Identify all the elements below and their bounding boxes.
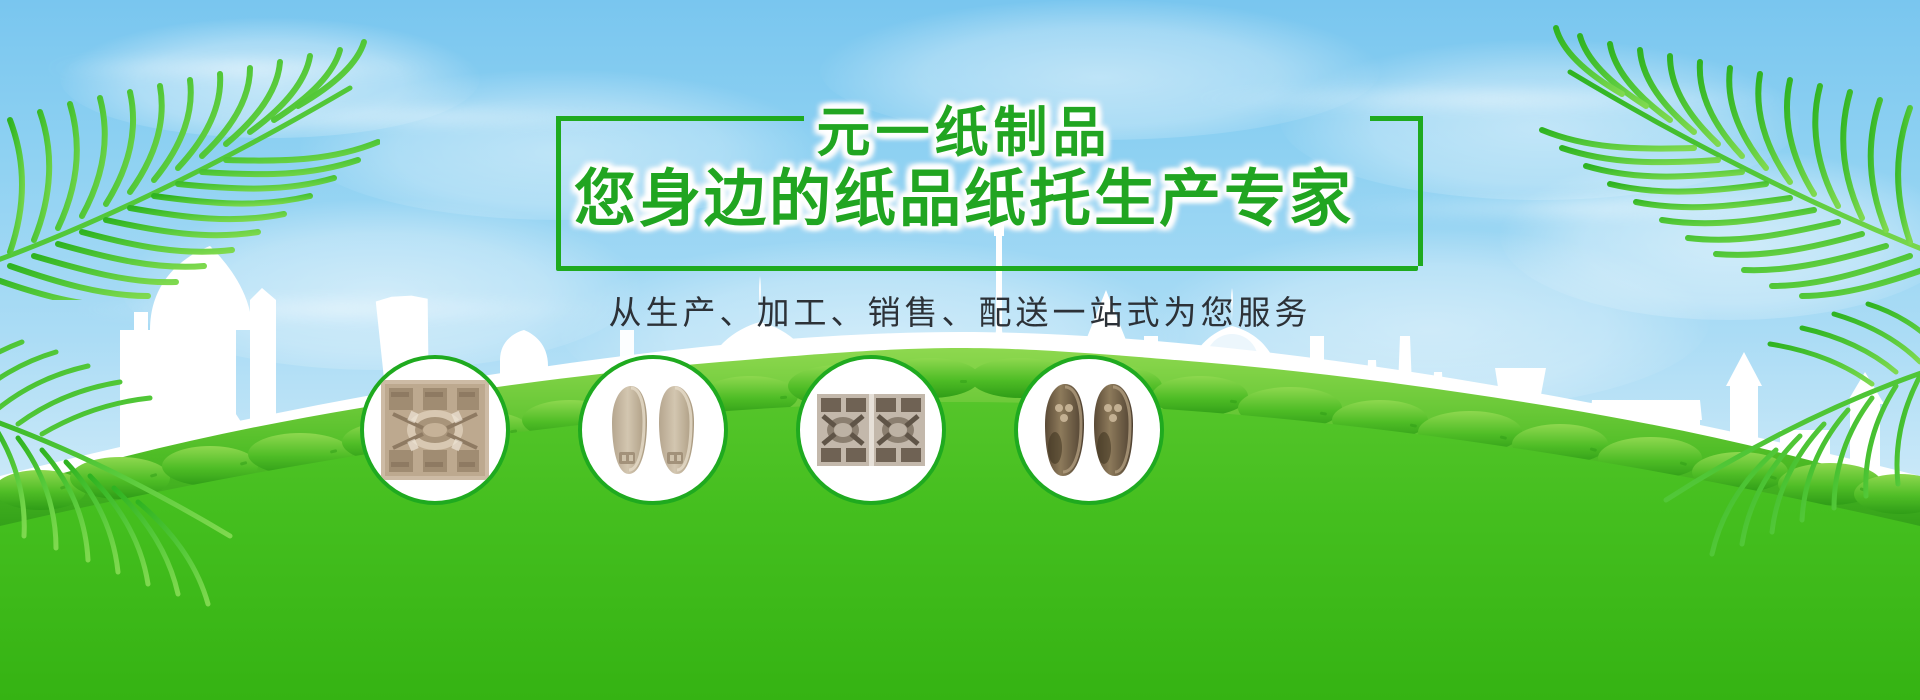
paper-pulp-tray-square [379, 378, 491, 482]
product-circle-2[interactable] [578, 355, 728, 505]
paper-pulp-packaging-pair [815, 378, 927, 482]
paper-pulp-shoe-trees-dark [1033, 378, 1145, 482]
product-circles [0, 0, 1920, 700]
product-circle-4[interactable] [1014, 355, 1164, 505]
paper-pulp-shoe-inserts [597, 378, 709, 482]
product-circle-3[interactable] [796, 355, 946, 505]
promo-banner: 元一纸制品 您身边的纸品纸托生产专家 从生产、加工、销售、配送一站式为您服务 [0, 0, 1920, 700]
product-circle-1[interactable] [360, 355, 510, 505]
